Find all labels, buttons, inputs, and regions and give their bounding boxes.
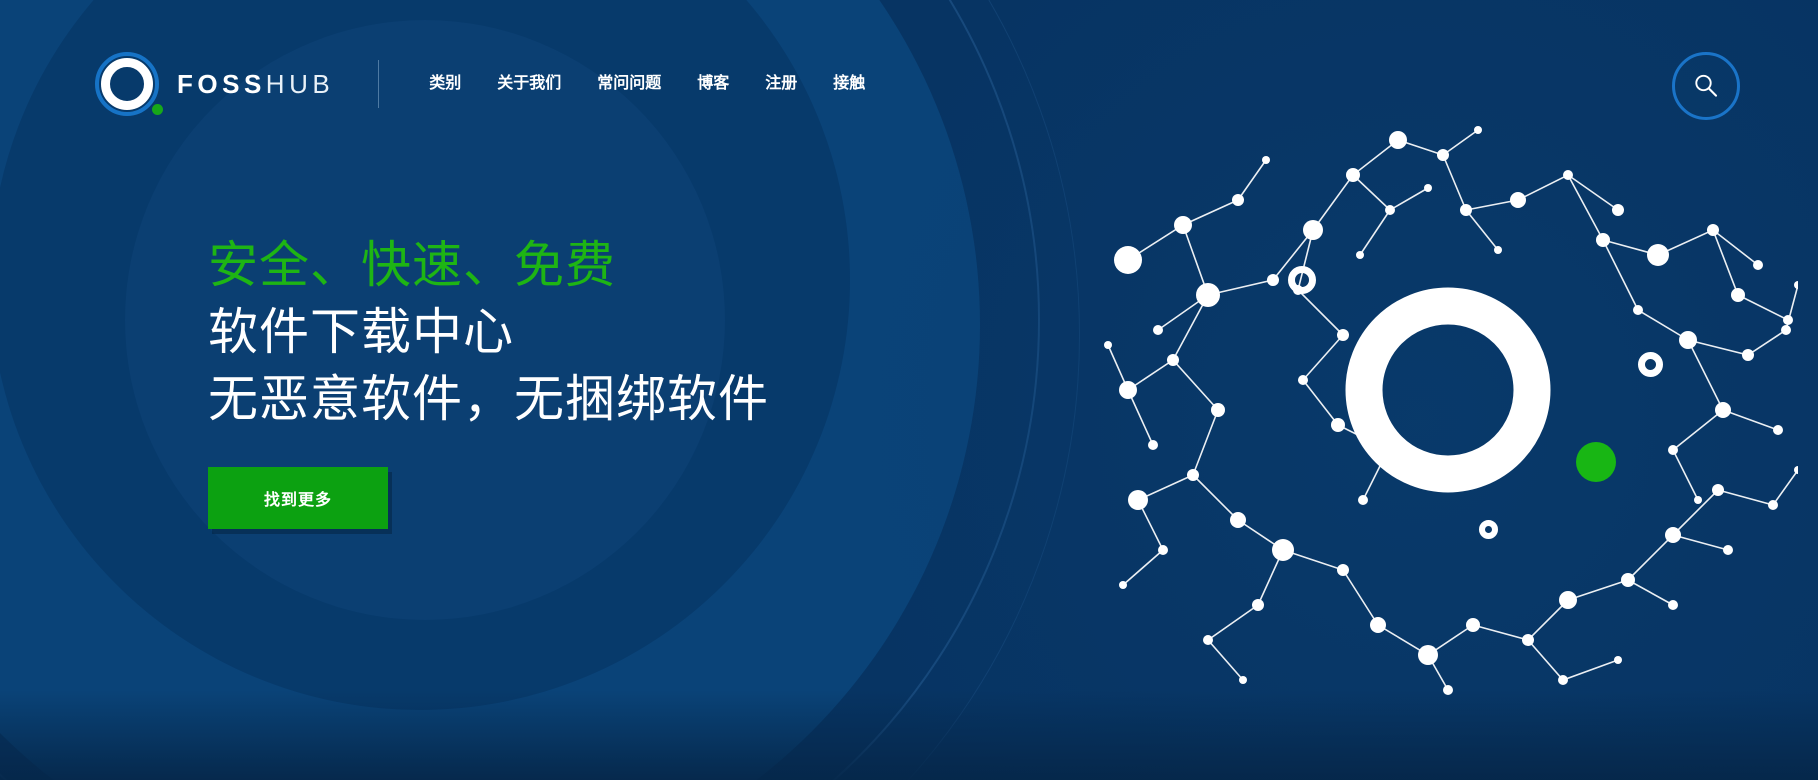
nav-item-about-us[interactable]: 关于我们 (479, 52, 579, 116)
hero-section: 安全、快速、免费 软件下载中心 无恶意软件，无捆绑软件 找到更多 (208, 232, 968, 529)
outlined-node-icon-c (1479, 520, 1498, 539)
hero-headline-accent: 安全、快速、免费 (208, 232, 968, 299)
logo-green-dot-icon (152, 104, 163, 115)
nav-item-faq[interactable]: 常问问题 (579, 52, 679, 116)
find-more-button[interactable]: 找到更多 (208, 467, 388, 529)
background-bottom-fade (0, 690, 1818, 780)
nav-item-register[interactable]: 注册 (747, 52, 815, 116)
hub-ring-icon (1346, 288, 1551, 493)
outlined-node-icon-b (1638, 352, 1663, 377)
brand-wordmark-secondary: HUB (266, 69, 334, 99)
brand-wordmark: FOSSHUB (177, 52, 334, 116)
outlined-node-icon-a (1288, 266, 1316, 294)
green-node-icon (1576, 442, 1616, 482)
brand-wordmark-primary: FOSS (177, 69, 266, 99)
nav-item-blog[interactable]: 博客 (679, 52, 747, 116)
hero-headline-line-3: 无恶意软件，无捆绑软件 (208, 366, 968, 433)
site-header: FOSSHUB 类别 关于我们 常问问题 博客 注册 接触 (0, 0, 1818, 175)
logo-inner-ring (101, 58, 153, 110)
fosshub-ring-logo-icon (95, 52, 159, 116)
hero-headline-line-2: 软件下载中心 (208, 299, 968, 366)
header-divider (378, 60, 379, 108)
brand-logo-link[interactable]: FOSSHUB (95, 52, 334, 116)
nav-item-categories[interactable]: 类别 (411, 52, 479, 116)
fosshub-landing-page: FOSSHUB 类别 关于我们 常问问题 博客 注册 接触 安全、快速、免费 软… (0, 0, 1818, 780)
main-navigation: 类别 关于我们 常问问题 博客 注册 接触 (411, 52, 883, 116)
nav-item-contact[interactable]: 接触 (815, 52, 883, 116)
